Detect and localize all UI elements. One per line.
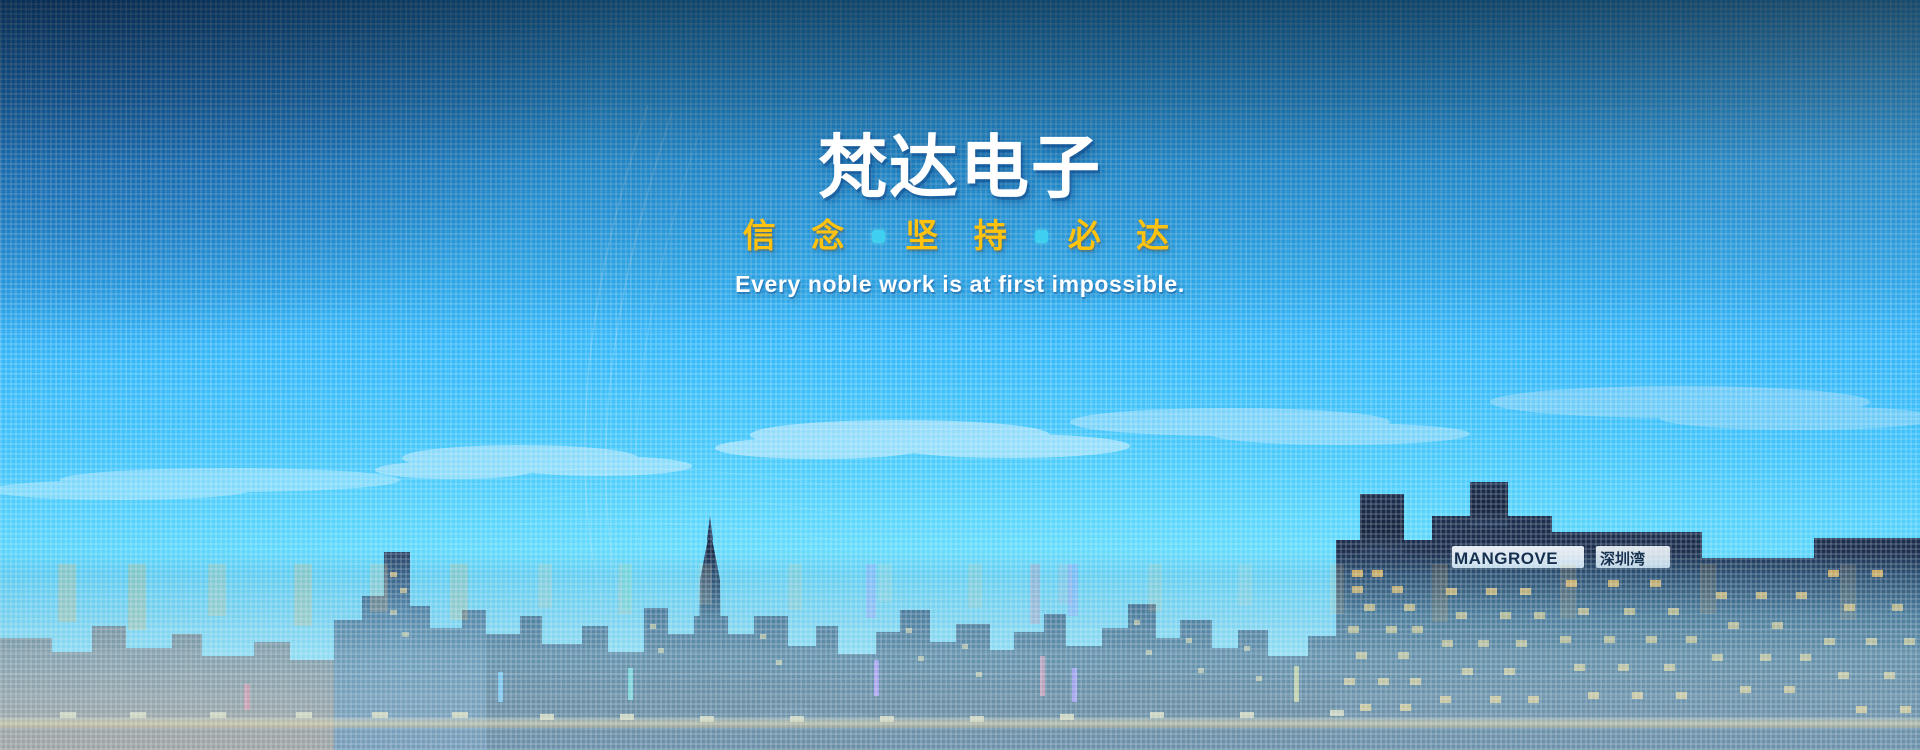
slogan-separator-dot-icon [1035,230,1048,243]
building-sign-mangrove: MANGROVE 深圳湾 [1440,544,1700,574]
company-title: 梵达电子 [0,132,1920,204]
company-slogan: 信 念 坚 持 必 达 [0,218,1920,254]
english-tagline: Every noble work is at first impossible. [0,271,1920,298]
water-reflections [0,560,1920,750]
svg-text:MANGROVE: MANGROVE [1454,549,1558,568]
hero-banner: MANGROVE 深圳湾 [0,0,1920,750]
slogan-separator-dot-icon [872,230,885,243]
svg-text:深圳湾: 深圳湾 [1600,550,1645,568]
slogan-word-1: 信 念 [739,218,857,254]
slogan-word-2: 坚 持 [901,218,1019,254]
slogan-word-3: 必 达 [1064,218,1182,254]
